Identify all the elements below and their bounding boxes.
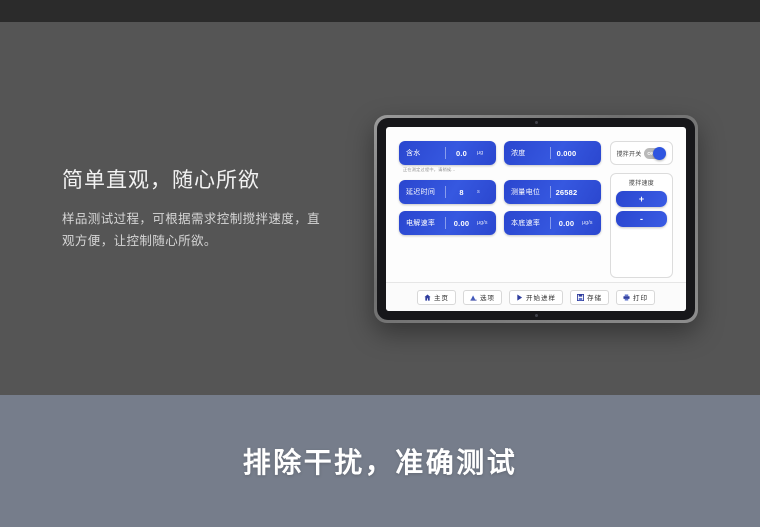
field-value: 0.00 xyxy=(551,219,582,228)
toolbar-button-label: 存储 xyxy=(587,292,602,302)
stir-speed-card: 搅拌速度 + - xyxy=(610,173,673,278)
printer-icon xyxy=(623,294,630,301)
field-unit: μg xyxy=(477,150,496,156)
stir-switch-label: 搅拌开关 xyxy=(617,149,642,158)
field-background-rate[interactable]: 本底速率 0.00 μg/s xyxy=(504,211,601,235)
field-unit: μg/s xyxy=(582,220,601,226)
stir-speed-increase-button[interactable]: + xyxy=(616,191,667,207)
copy-heading: 简单直观，随心所欲 xyxy=(62,168,332,193)
sliders-icon xyxy=(470,294,477,301)
screen-toolbar: 主页 选项 开始进样 xyxy=(386,282,686,311)
field-value: 0.0 xyxy=(446,149,477,158)
field-value: 26582 xyxy=(551,188,582,197)
page-root: 简单直观，随心所欲 样品测试过程，可根据需求控制搅拌速度，直观方便，让控制随心所… xyxy=(0,0,760,527)
field-moisture[interactable]: 含水 0.0 μg xyxy=(399,141,496,165)
field-label: 电解速率 xyxy=(399,218,445,228)
hint-spacer xyxy=(504,167,601,173)
side-controls: 搅拌开关 ON 搅拌速度 + - xyxy=(610,141,673,278)
field-grid: 含水 0.0 μg 正在测定过程中，请稍候... 延迟时间 8 xyxy=(399,141,601,278)
field-label: 本底速率 xyxy=(504,218,550,228)
status-hint: 正在测定过程中，请稍候... xyxy=(399,167,496,173)
field-label: 含水 xyxy=(399,148,445,158)
tablet-screen: 含水 0.0 μg 正在测定过程中，请稍候... 延迟时间 8 xyxy=(386,127,686,311)
marketing-copy: 简单直观，随心所欲 样品测试过程，可根据需求控制搅拌速度，直观方便，让控制随心所… xyxy=(62,168,332,253)
toolbar-button-start-sampling[interactable]: 开始进样 xyxy=(509,290,563,305)
field-column-right: 浓度 0.000 测量电位 26582 xyxy=(504,141,601,278)
toolbar-button-save[interactable]: 存储 xyxy=(570,290,609,305)
stir-switch-card[interactable]: 搅拌开关 ON xyxy=(610,141,673,165)
field-label: 测量电位 xyxy=(504,187,550,197)
field-concentration[interactable]: 浓度 0.000 xyxy=(504,141,601,165)
field-unit: s xyxy=(477,189,496,195)
screen-main: 含水 0.0 μg 正在测定过程中，请稍候... 延迟时间 8 xyxy=(386,127,686,282)
sensor-icon xyxy=(535,314,538,317)
stir-toggle[interactable]: ON xyxy=(644,148,666,159)
field-group-concentration: 浓度 0.000 xyxy=(504,141,601,173)
toggle-knob xyxy=(653,147,666,160)
bottom-banner: 排除干扰，准确测试 xyxy=(0,395,760,527)
field-delay-time[interactable]: 延迟时间 8 s xyxy=(399,180,496,204)
tablet-bezel: 含水 0.0 μg 正在测定过程中，请稍候... 延迟时间 8 xyxy=(377,118,695,320)
field-electrolysis-rate[interactable]: 电解速率 0.00 μg/s xyxy=(399,211,496,235)
top-dark-band xyxy=(0,0,760,22)
stir-speed-label: 搅拌速度 xyxy=(629,178,654,187)
save-icon xyxy=(577,294,584,301)
toolbar-button-label: 主页 xyxy=(434,292,449,302)
toolbar-button-label: 开始进样 xyxy=(526,292,556,302)
field-group-moisture: 含水 0.0 μg 正在测定过程中，请稍候... xyxy=(399,141,496,173)
camera-icon xyxy=(535,121,538,124)
field-value: 8 xyxy=(446,188,477,197)
play-icon xyxy=(516,294,523,301)
field-column-left: 含水 0.0 μg 正在测定过程中，请稍候... 延迟时间 8 xyxy=(399,141,496,278)
banner-headline: 排除干扰，准确测试 xyxy=(243,441,518,481)
toolbar-button-label: 选项 xyxy=(480,292,495,302)
stir-speed-decrease-button[interactable]: - xyxy=(616,211,667,227)
toolbar-button-options[interactable]: 选项 xyxy=(463,290,502,305)
field-value: 0.00 xyxy=(446,219,477,228)
field-measured-potential[interactable]: 测量电位 26582 xyxy=(504,180,601,204)
field-value: 0.000 xyxy=(551,149,582,158)
home-icon xyxy=(424,294,431,301)
toolbar-button-label: 打印 xyxy=(633,292,648,302)
field-label: 浓度 xyxy=(504,148,550,158)
field-unit: μg/s xyxy=(477,220,496,226)
toolbar-button-home[interactable]: 主页 xyxy=(417,290,456,305)
toolbar-button-print[interactable]: 打印 xyxy=(616,290,655,305)
field-label: 延迟时间 xyxy=(399,187,445,197)
copy-body: 样品测试过程，可根据需求控制搅拌速度，直观方便，让控制随心所欲。 xyxy=(62,209,332,253)
tablet-device: 含水 0.0 μg 正在测定过程中，请稍候... 延迟时间 8 xyxy=(374,115,698,323)
